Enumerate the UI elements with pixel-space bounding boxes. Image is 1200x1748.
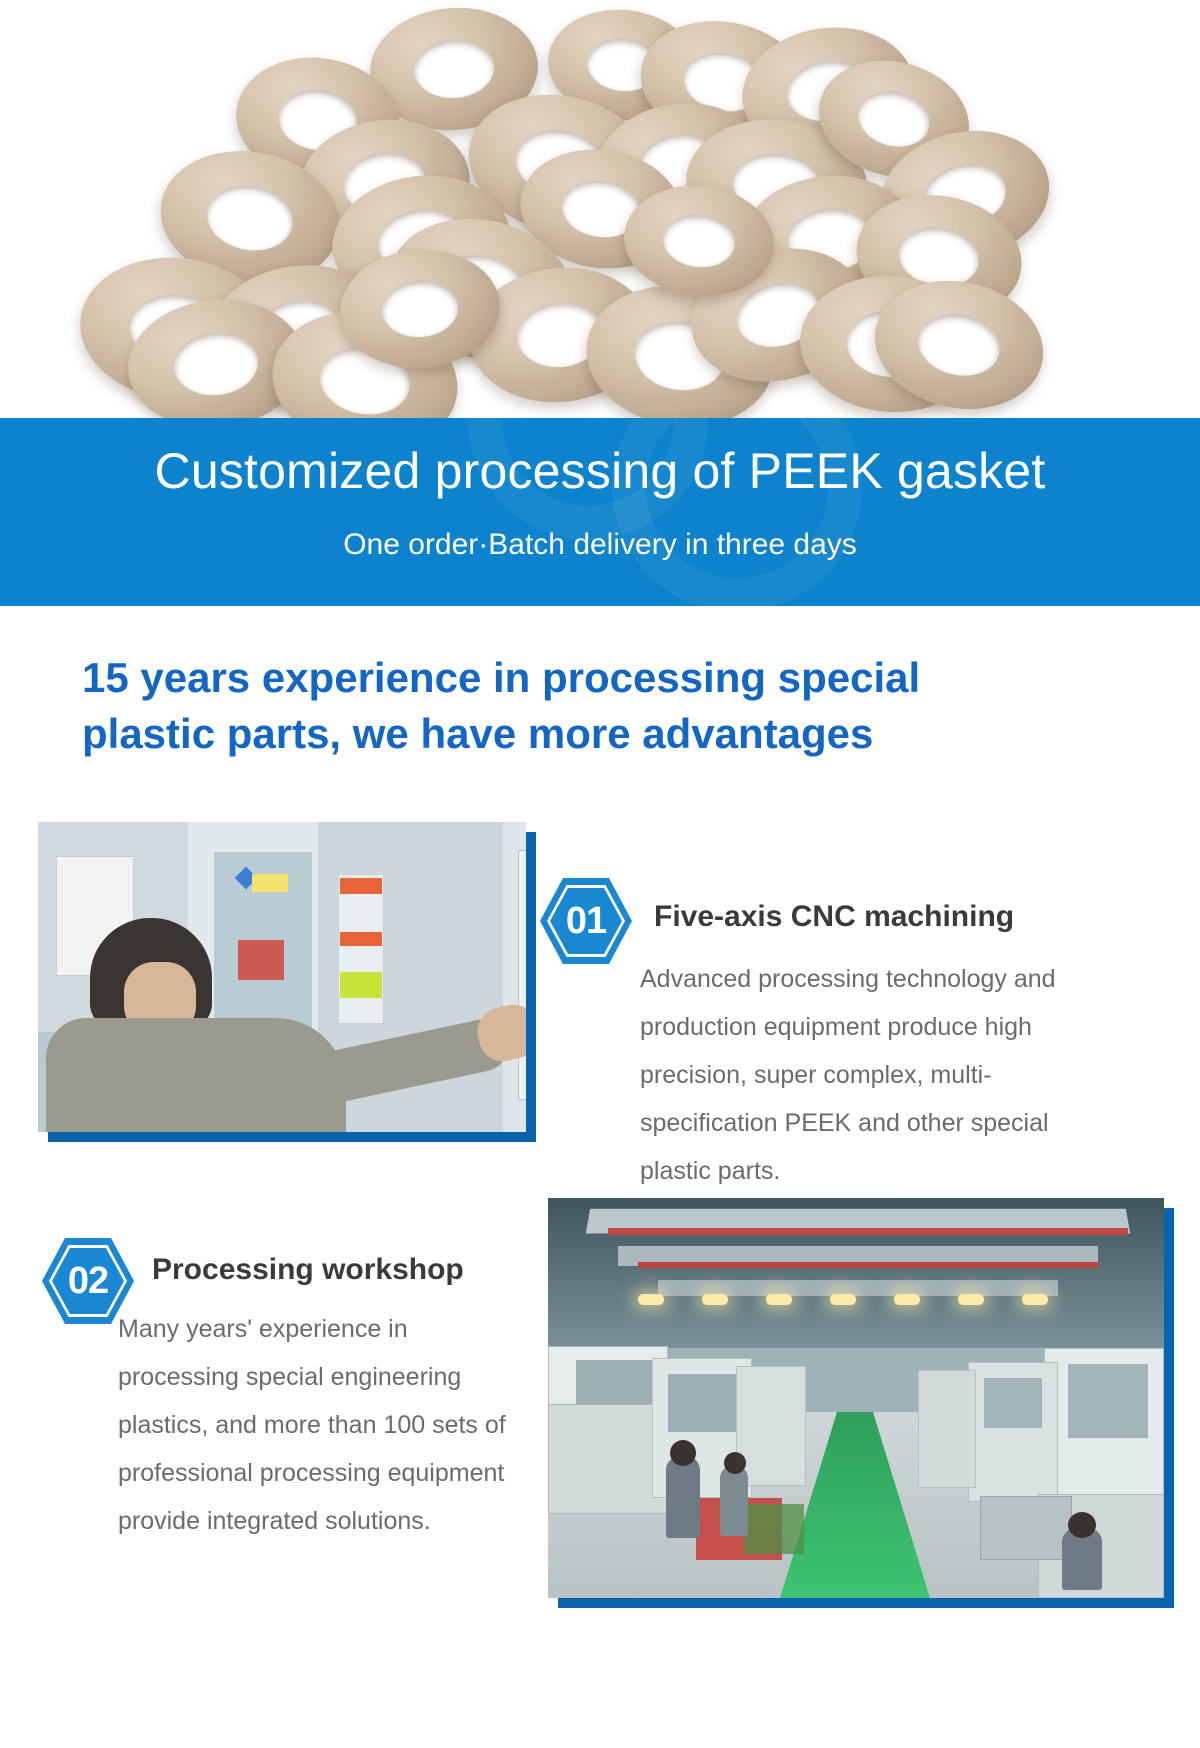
feature-02-title: Processing workshop <box>152 1253 464 1287</box>
workshop-detail <box>608 1228 1128 1235</box>
photo-detail <box>340 972 382 998</box>
workshop-detail <box>720 1466 748 1536</box>
workshop-detail <box>744 1504 804 1554</box>
banner-title: Customized processing of PEEK gasket <box>0 442 1200 500</box>
feature-02-body: Many years' experience in processing spe… <box>118 1305 518 1545</box>
workshop-detail <box>766 1294 792 1305</box>
workshop-detail <box>1068 1512 1096 1538</box>
workshop-detail <box>724 1452 746 1474</box>
photo-detail <box>238 940 284 980</box>
gasket-pile-illustration <box>0 0 1200 420</box>
photo-detail <box>340 932 382 946</box>
workshop-detail <box>702 1294 728 1305</box>
feature-01-body: Advanced processing technology and produ… <box>640 955 1072 1195</box>
banner-subtitle: One order·Batch delivery in three days <box>0 528 1200 562</box>
hero-product-photo <box>0 0 1200 420</box>
workshop-detail <box>958 1294 984 1305</box>
workshop-scene <box>548 1198 1164 1598</box>
workshop-detail <box>918 1370 976 1488</box>
workshop-detail <box>638 1262 1098 1268</box>
feature-02-photo <box>548 1198 1164 1598</box>
workshop-detail <box>638 1294 664 1305</box>
title-banner: Customized processing of PEEK gasket One… <box>0 418 1200 606</box>
workshop-detail <box>668 1374 738 1432</box>
cnc-operator-photo <box>38 822 526 1132</box>
workshop-detail <box>736 1366 806 1486</box>
feature-01-photo <box>38 822 526 1132</box>
workshop-photo <box>548 1198 1164 1598</box>
feature-01-badge: 01 <box>540 878 632 964</box>
headline-line-2: plastic parts, we have more advantages <box>82 706 1082 762</box>
section-headline: 15 years experience in processing specia… <box>82 650 1082 762</box>
photo-detail <box>340 878 382 894</box>
workshop-detail <box>830 1294 856 1305</box>
workshop-detail <box>666 1456 700 1538</box>
workshop-detail <box>1068 1364 1148 1438</box>
headline-line-1: 15 years experience in processing specia… <box>82 654 920 701</box>
workshop-detail <box>894 1294 920 1305</box>
workshop-detail <box>980 1496 1072 1560</box>
workshop-detail <box>984 1378 1042 1428</box>
feature-01-title: Five-axis CNC machining <box>654 900 1014 934</box>
photo-detail <box>252 874 288 892</box>
workshop-detail <box>670 1440 696 1466</box>
photo-detail <box>518 850 526 1100</box>
photo-detail <box>338 874 384 1024</box>
feature-01-number: 01 <box>540 878 632 964</box>
workshop-detail <box>1022 1294 1048 1305</box>
